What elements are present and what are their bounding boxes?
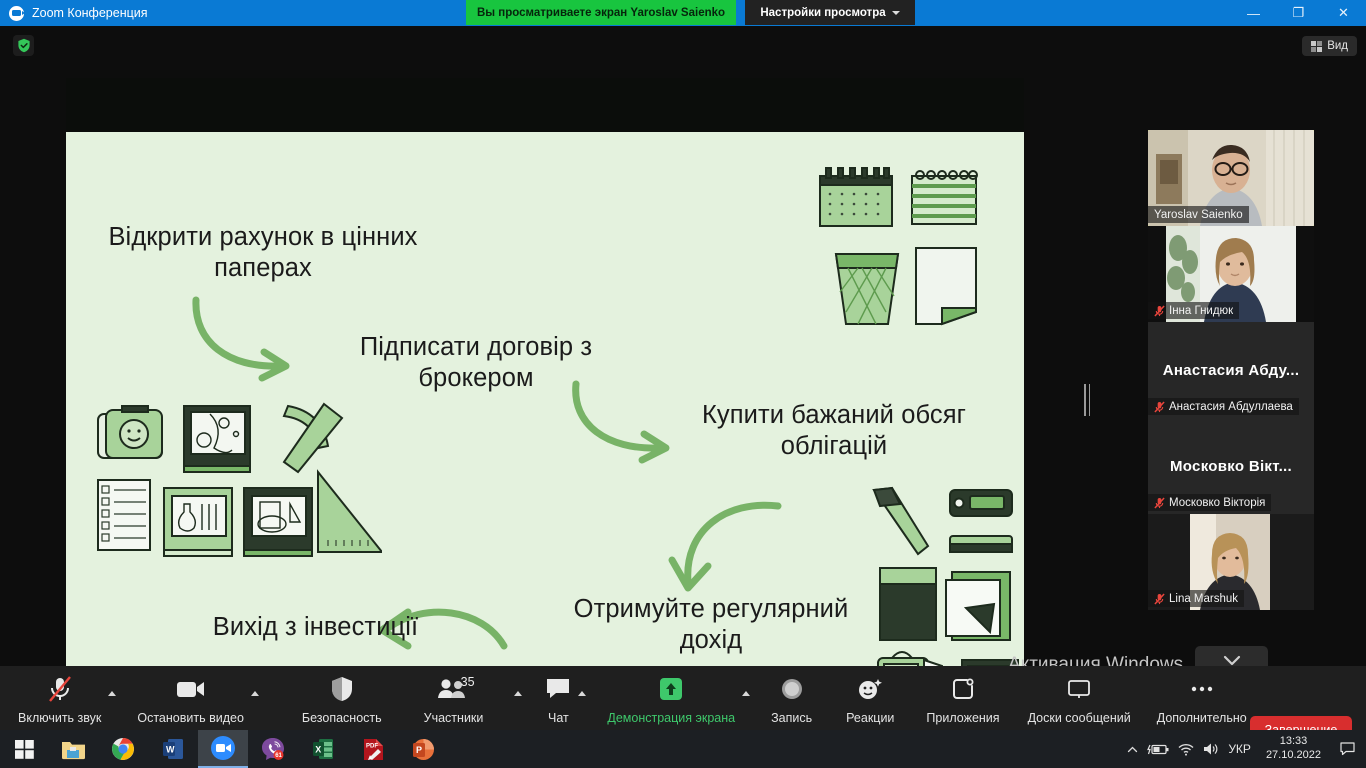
stationery-illustration-top (814, 162, 996, 332)
taskbar-google-chrome-icon[interactable] (98, 730, 148, 768)
taskbar-pdf-reader-icon[interactable]: PDF (348, 730, 398, 768)
participant-namebar-2: Анастасия Абдуллаева (1148, 398, 1299, 415)
toolbar-security-label: Безопасность (302, 711, 382, 725)
battery-charging-icon[interactable] (1147, 743, 1169, 756)
microphone-muted-icon (1154, 305, 1165, 317)
toolbar-whiteboard-button[interactable]: Доски сообщений (1028, 672, 1131, 725)
toolbar-reactions-label: Реакции (846, 711, 894, 725)
toolbar-more-button[interactable]: Дополнительно (1157, 672, 1247, 725)
toolbar-security-button[interactable]: Безопасность (302, 672, 382, 725)
clock-date: 27.10.2022 (1266, 749, 1321, 763)
shared-screen-view[interactable]: Відкрити рахунок в цінних паперах Підпис… (66, 78, 1024, 672)
slide-step-4: Отримуйте регулярний дохід (566, 594, 856, 656)
participant-tile-2[interactable]: Анастасия Абду... Анастасия Абдуллаева (1148, 322, 1314, 418)
chat-options-caret[interactable] (575, 672, 589, 706)
participant-display-3: Московко Вікт... (1170, 458, 1292, 475)
arrow-step3-to-step4-icon (666, 498, 786, 608)
toolbar-reactions-button[interactable]: Реакции (846, 672, 894, 725)
shield-icon (331, 672, 353, 706)
taskbar-zoom-icon[interactable] (198, 730, 248, 768)
chat-bubble-icon (545, 672, 571, 706)
toolbar-mute-button[interactable]: Включить звук (18, 672, 101, 725)
show-hidden-icons-icon[interactable] (1127, 745, 1138, 754)
restore-button[interactable]: ❐ (1276, 0, 1321, 26)
titlebar-left: Zoom Конференция (0, 6, 452, 21)
video-options-caret[interactable] (248, 672, 262, 706)
reactions-icon (857, 672, 883, 706)
record-icon (780, 672, 804, 706)
language-indicator[interactable]: УКР (1228, 742, 1251, 756)
toolbar-share-screen-label: Демонстрация экрана (607, 711, 735, 725)
view-settings-label: Настройки просмотра (760, 7, 885, 19)
toolbar-record-label: Запись (771, 711, 812, 725)
svg-text:61: 61 (275, 753, 282, 759)
window-title: Zoom Конференция (32, 6, 148, 20)
video-camera-icon (176, 672, 206, 706)
svg-text:W: W (166, 745, 175, 755)
toolbar-video-button[interactable]: Остановить видео (137, 672, 244, 725)
toolbar-mute-label: Включить звук (18, 711, 101, 725)
participant-namebar-4: Lina Marshuk (1148, 590, 1244, 607)
participants-filmstrip: Yaroslav Saienko (1148, 130, 1314, 650)
participant-namebar-0: Yaroslav Saienko (1148, 206, 1249, 223)
presentation-slide: Відкрити рахунок в цінних паперах Підпис… (66, 132, 1024, 672)
more-icon (1190, 672, 1214, 706)
microphone-muted-icon (1154, 497, 1165, 509)
minimize-button[interactable]: — (1231, 0, 1276, 26)
share-options-caret[interactable] (739, 672, 753, 706)
system-tray: УКР 13:33 27.10.2022 (1127, 730, 1366, 768)
slide-step-2: Підписати договір з брокером (316, 332, 636, 394)
microphone-muted-icon (47, 672, 73, 706)
apps-icon (951, 672, 975, 706)
mute-options-caret[interactable] (105, 672, 119, 706)
share-screen-icon (659, 672, 683, 706)
participants-count: 35 (461, 675, 475, 689)
participants-options-caret[interactable] (511, 672, 525, 706)
window-controls: — ❐ ✕ (1231, 0, 1366, 26)
view-settings-button[interactable]: Настройки просмотра (745, 0, 915, 25)
action-center-icon[interactable] (1336, 730, 1358, 768)
participant-name-2: Анастасия Абдуллаева (1169, 401, 1293, 413)
arrow-step1-to-step2-icon (184, 294, 304, 389)
wifi-icon[interactable] (1178, 743, 1194, 756)
school-supplies-illustration-left (92, 400, 382, 560)
zoom-camera-icon (9, 6, 24, 21)
participant-tile-1[interactable]: Інна Гнидюк (1148, 226, 1314, 322)
chevron-down-icon (892, 11, 900, 15)
participant-tile-0[interactable]: Yaroslav Saienko (1148, 130, 1314, 226)
participant-name-0: Yaroslav Saienko (1154, 209, 1243, 221)
slide-step-3: Купити бажаний обсяг облігацій (694, 400, 974, 462)
share-status-text: Вы просматриваете экран Yaroslav Saienko (477, 7, 725, 19)
grid-icon (1311, 41, 1322, 52)
share-status-banner: Вы просматриваете экран Yaroslav Saienko (466, 0, 736, 25)
participant-namebar-3: Московко Вікторія (1148, 494, 1271, 511)
taskbar-viber-icon[interactable]: 61 (248, 730, 298, 768)
taskbar-microsoft-powerpoint-icon[interactable]: P (398, 730, 448, 768)
toolbar-apps-button[interactable]: Приложения (926, 672, 999, 725)
toolbar-chat-button[interactable]: Чат (545, 672, 571, 725)
meeting-area: Вид Відкрити рахунок в цінних па (0, 26, 1366, 768)
participant-namebar-1: Інна Гнидюк (1148, 302, 1239, 319)
toolbar-participants-button[interactable]: 35 Участники (424, 672, 484, 725)
slide-step-1: Відкрити рахунок в цінних паперах (98, 222, 428, 284)
shield-check-icon[interactable] (13, 35, 34, 56)
microphone-muted-icon (1154, 401, 1165, 413)
toolbar-apps-label: Приложения (926, 711, 999, 725)
svg-text:X: X (315, 745, 321, 755)
participant-name-3: Московко Вікторія (1169, 497, 1265, 509)
view-button-label: Вид (1327, 40, 1348, 52)
toolbar-more-label: Дополнительно (1157, 711, 1247, 725)
toolbar-share-screen-button[interactable]: Демонстрация экрана (607, 672, 735, 725)
participant-tile-4[interactable]: Lina Marshuk (1148, 514, 1314, 610)
toolbar-whiteboard-label: Доски сообщений (1028, 711, 1131, 725)
toolbar-items: Включить звук Остановить видео (0, 672, 1247, 725)
slide-step-5: Вихід з інвестиції (208, 612, 423, 643)
participant-name-1: Інна Гнидюк (1169, 305, 1233, 317)
participant-tile-3[interactable]: Московко Вікт... Московко Вікторія (1148, 418, 1314, 514)
microphone-muted-icon (1154, 593, 1165, 605)
close-button[interactable]: ✕ (1321, 0, 1366, 26)
windows-start-icon[interactable] (0, 730, 48, 768)
taskbar-clock[interactable]: 13:33 27.10.2022 (1266, 735, 1321, 763)
windows-taskbar: W 61 X PDF (0, 730, 1366, 768)
participant-name-4: Lina Marshuk (1169, 593, 1238, 605)
panel-drag-handle[interactable] (1082, 384, 1092, 416)
toolbar-record-button[interactable]: Запись (771, 672, 812, 725)
participant-display-2: Анастасия Абду... (1163, 362, 1300, 379)
toolbar-chat-label: Чат (548, 711, 569, 725)
view-button[interactable]: Вид (1302, 36, 1357, 56)
taskbar-microsoft-word-icon[interactable]: W (148, 730, 198, 768)
svg-text:P: P (416, 745, 422, 755)
clock-time: 13:33 (1280, 735, 1308, 749)
speaker-icon[interactable] (1203, 742, 1219, 756)
taskbar-microsoft-excel-icon[interactable]: X (298, 730, 348, 768)
toolbar-video-label: Остановить видео (137, 711, 244, 725)
taskbar-file-explorer-icon[interactable] (48, 730, 98, 768)
svg-text:PDF: PDF (366, 743, 378, 749)
whiteboard-icon (1066, 672, 1092, 706)
stationery-illustration-bottom (866, 484, 1024, 672)
toolbar-participants-label: Участники (424, 711, 484, 725)
